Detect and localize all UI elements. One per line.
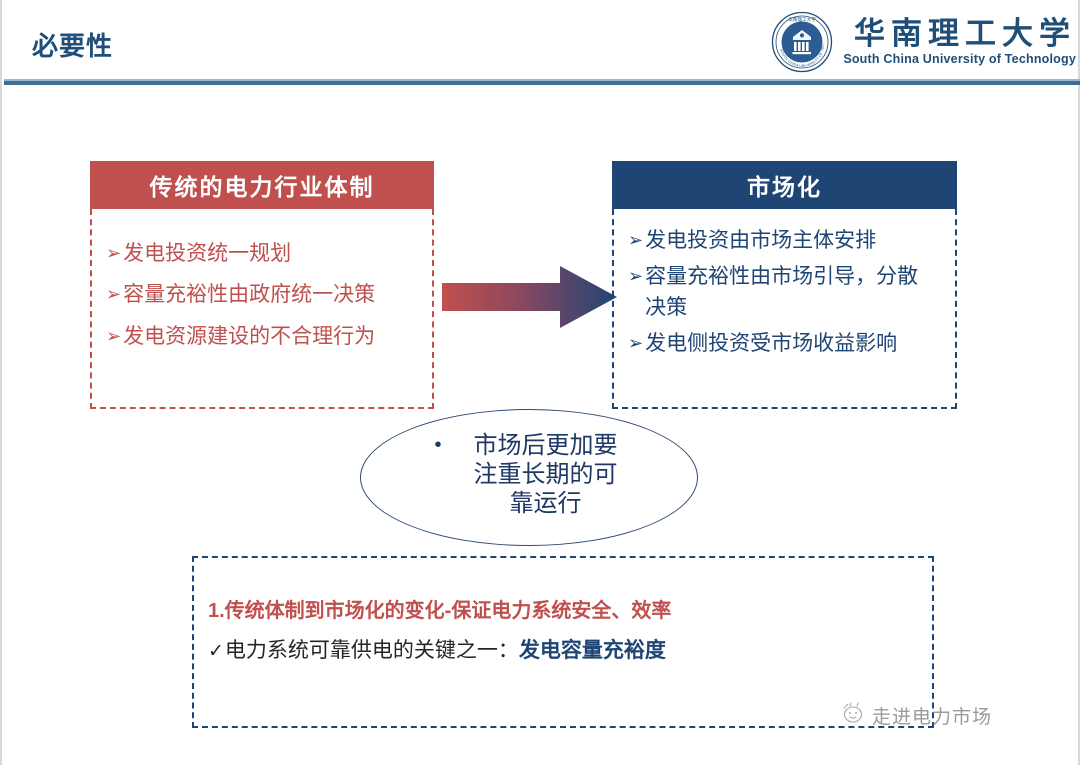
panel-title-traditional: 传统的电力行业体制: [150, 168, 375, 202]
list-item-label: 容量充裕性由市场引导，分散 决策: [645, 262, 918, 323]
chevron-right-icon: ➢: [628, 226, 643, 255]
panel-header-market: 市场化: [612, 161, 957, 209]
summary-detail-highlight: 发电容量充裕度: [519, 634, 666, 664]
svg-text:华南理工大学: 华南理工大学: [789, 16, 817, 23]
summary-heading: 1.传统体制到市场化的变化-保证电力系统安全、效率: [208, 594, 932, 623]
list-item: ➢ 发电资源建设的不合理行为: [106, 322, 422, 352]
list-item-label: 发电投资统一规划: [123, 239, 291, 269]
watermark: 走进电力市场: [840, 702, 992, 729]
list-item: ➢ 容量充裕性由市场引导，分散 决策: [628, 262, 947, 323]
insight-callout-ellipse: • 市场后更加要 注重长期的可 靠运行: [360, 409, 698, 546]
summary-detail-prefix: 电力系统可靠供电的关键之一：: [225, 634, 519, 664]
ellipse-text: 市场后更加要 注重长期的可 靠运行: [468, 432, 624, 518]
right-arrow-icon: [442, 266, 617, 328]
university-seal-icon: 华南理工大学 SOUTH CHINA UNIVERSITY OF TECHNOL…: [771, 11, 833, 73]
chevron-right-icon: ➢: [106, 322, 121, 351]
list-item-label: 容量充裕性由政府统一决策: [123, 280, 375, 310]
list-item-label: 发电投资由市场主体安排: [645, 226, 876, 256]
watermark-label: 走进电力市场: [872, 702, 992, 729]
slide-header: 必要性 华南理工大学 SOUTH CHINA U: [2, 0, 1080, 86]
panel-title-market: 市场化: [747, 168, 822, 202]
logo-wordmark: 华南理工大学 South China University of Technol…: [843, 18, 1076, 67]
list-item-label: 发电资源建设的不合理行为: [123, 322, 375, 352]
ellipse-content: • 市场后更加要 注重长期的可 靠运行: [434, 432, 623, 522]
bullet-dot-icon: •: [434, 434, 441, 457]
list-item: ➢ 发电侧投资受市场收益影响: [628, 329, 947, 359]
panel-body-traditional: ➢ 发电投资统一规划 ➢ 容量充裕性由政府统一决策 ➢ 发电资源建设的不合理行为: [90, 209, 434, 409]
chevron-right-icon: ➢: [628, 329, 643, 358]
smiley-face-icon: [840, 702, 866, 729]
page-title: 必要性: [32, 26, 113, 63]
header-divider-thick: [4, 81, 1080, 85]
list-item-label: 发电侧投资受市场收益影响: [645, 329, 897, 359]
summary-detail: ✓ 电力系统可靠供电的关键之一： 发电容量充裕度: [208, 634, 932, 664]
panel-body-market: ➢ 发电投资由市场主体安排 ➢ 容量充裕性由市场引导，分散 决策 ➢ 发电侧投资…: [612, 209, 957, 409]
chevron-right-icon: ➢: [628, 262, 643, 291]
chevron-right-icon: ➢: [106, 239, 121, 268]
list-item: ➢ 容量充裕性由政府统一决策: [106, 280, 422, 310]
panel-header-traditional: 传统的电力行业体制: [90, 161, 434, 209]
chevron-right-icon: ➢: [106, 280, 121, 309]
slide-canvas: 必要性 华南理工大学 SOUTH CHINA U: [0, 0, 1080, 765]
check-icon: ✓: [208, 640, 224, 663]
logo-name-en: South China University of Technology: [843, 52, 1076, 66]
logo-name-cn: 华南理工大学: [854, 18, 1076, 51]
list-item: ➢ 发电投资由市场主体安排: [628, 226, 947, 256]
list-item: ➢ 发电投资统一规划: [106, 239, 422, 269]
summary-box: 1.传统体制到市场化的变化-保证电力系统安全、效率 ✓ 电力系统可靠供电的关键之…: [192, 556, 934, 728]
university-logo: 华南理工大学 SOUTH CHINA UNIVERSITY OF TECHNOL…: [771, 8, 1076, 76]
